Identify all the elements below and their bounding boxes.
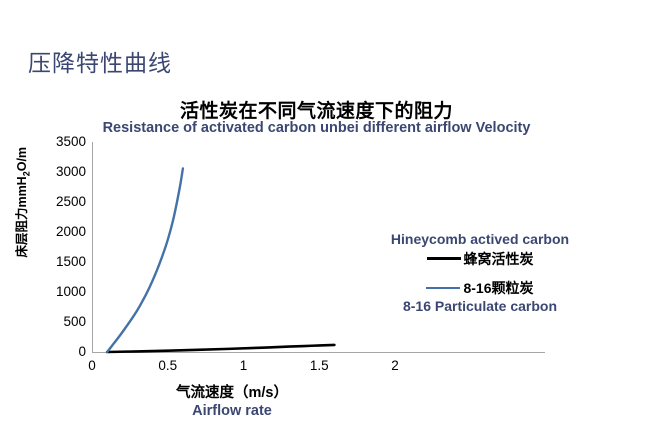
series-line-honeycomb	[107, 345, 334, 352]
legend-entry-honeycomb: 蜂窝活性炭	[370, 249, 590, 269]
legend-swatch-honeycomb-icon	[427, 257, 461, 260]
legend-entry-particulate: 8-16颗粒炭	[370, 278, 590, 298]
legend-label-particulate-cn: 8-16颗粒炭	[463, 278, 533, 298]
legend-caption-honeycomb-en: Hineycomb actived carbon	[370, 231, 590, 249]
series-line-particulate	[107, 168, 183, 352]
legend-label-honeycomb-cn: 蜂窝活性炭	[464, 249, 534, 269]
plot-curves	[0, 0, 653, 448]
chart-figure: 活性炭在不同气流速度下的阻力 Resistance of activated c…	[0, 0, 653, 448]
chart-legend: Hineycomb actived carbon 蜂窝活性炭 8-16颗粒炭 8…	[370, 231, 590, 315]
legend-swatch-particulate-icon	[426, 287, 460, 289]
legend-spacer	[370, 269, 590, 278]
legend-caption-particulate-en: 8-16 Particulate carbon	[370, 298, 590, 316]
